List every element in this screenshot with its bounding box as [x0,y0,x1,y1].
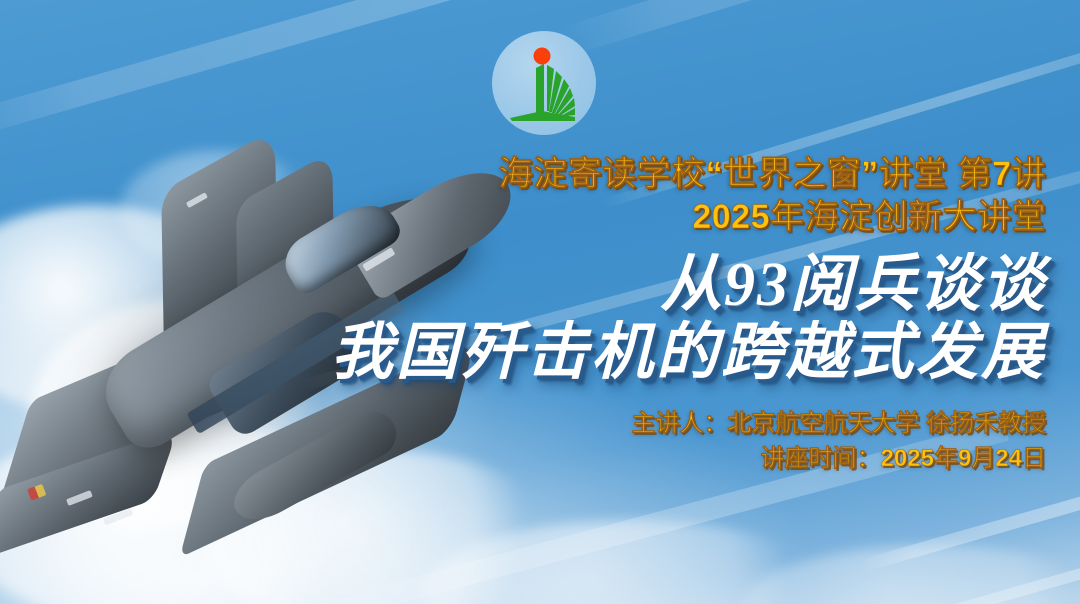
logo-sun-dot [534,48,551,65]
poster-text-block: 海淀寄读学校“世界之窗”讲堂 第7讲 2025年海淀创新大讲堂 从93阅兵谈谈 … [326,155,1046,476]
speaker-line: 主讲人：北京航空航天大学 徐扬禾教授 [326,407,1046,442]
poster-headline: 从93阅兵谈谈 我国歼击机的跨越式发展 [326,251,1046,387]
school-logo [492,31,596,135]
headline-line-2: 我国歼击机的跨越式发展 [326,319,1046,387]
logo-sail-icon [492,31,596,135]
kicker-line-1: 海淀寄读学校“世界之窗”讲堂 第7讲 [326,155,1046,194]
lecture-time-line: 讲座时间：2025年9月24日 [326,442,1046,477]
lecture-poster: 海淀寄读学校“世界之窗”讲堂 第7讲 2025年海淀创新大讲堂 从93阅兵谈谈 … [0,0,1080,604]
poster-meta-block: 主讲人：北京航空航天大学 徐扬禾教授 讲座时间：2025年9月24日 [326,407,1046,477]
kicker-line-2: 2025年海淀创新大讲堂 [326,198,1046,237]
headline-line-1: 从93阅兵谈谈 [326,251,1046,319]
